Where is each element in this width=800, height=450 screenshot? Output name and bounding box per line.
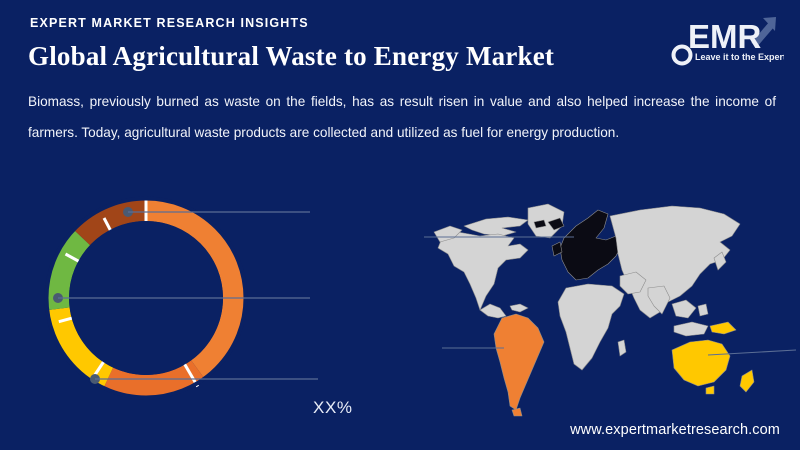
map-region-central-america <box>480 304 506 318</box>
emr-logo-text: EMR <box>688 18 762 55</box>
donut-hole <box>69 221 223 375</box>
description-text: Biomass, previously burned as waste on t… <box>28 86 776 148</box>
map-region-new-zealand <box>740 370 754 392</box>
map-region-north-america <box>438 232 528 310</box>
map-region-south-america-tip <box>512 408 522 416</box>
map-region-north-america <box>464 217 528 236</box>
slide-canvas: EXPERT MARKET RESEARCH INSIGHTS EMR Leav… <box>0 0 800 450</box>
map-region-new-guinea <box>710 322 736 334</box>
logo-ring-icon <box>674 47 691 64</box>
map-region-uk <box>552 242 562 256</box>
map-region-caribbean <box>510 304 528 312</box>
map-region-southeast-asia <box>672 300 696 318</box>
donut-label-1: XX% <box>313 398 353 418</box>
website-url[interactable]: www.expertmarketresearch.com <box>570 422 780 438</box>
world-map <box>424 192 796 420</box>
emr-logo[interactable]: EMR Leave it to the Experts! <box>668 12 784 70</box>
donut-chart <box>36 188 256 408</box>
map-region-madagascar <box>618 340 626 356</box>
eyebrow-label: EXPERT MARKET RESEARCH INSIGHTS <box>30 16 309 30</box>
emr-logo-tagline: Leave it to the Experts! <box>695 52 784 62</box>
map-region-indonesia <box>674 322 708 336</box>
page-title: Global Agricultural Waste to Energy Mark… <box>28 41 554 72</box>
map-region-tasmania <box>706 386 714 394</box>
map-region-south-america <box>494 314 544 410</box>
map-region-philippines <box>698 304 708 316</box>
map-region-africa <box>558 284 624 370</box>
map-region-australia <box>672 340 730 386</box>
